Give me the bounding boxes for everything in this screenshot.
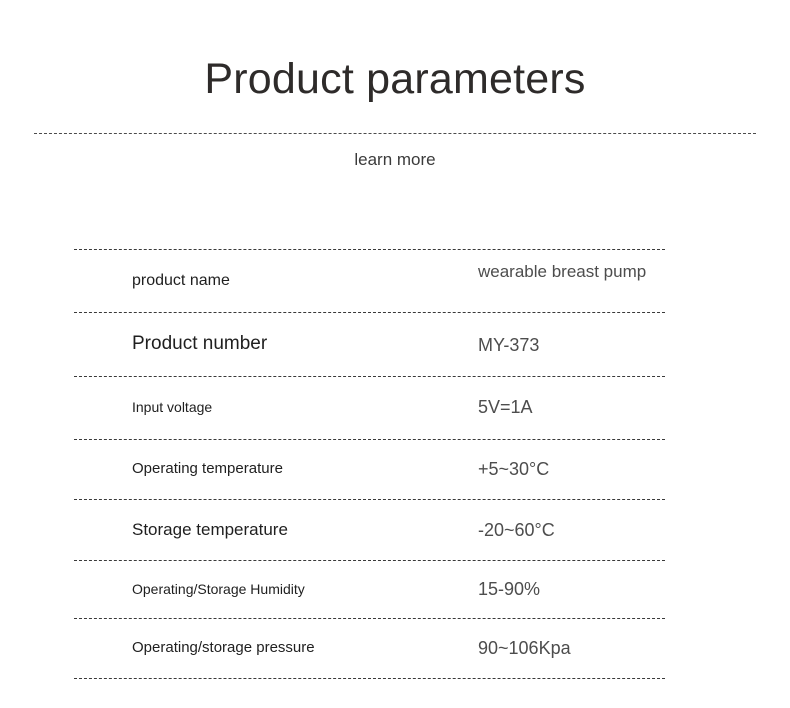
spec-value: -20~60°C: [478, 520, 663, 541]
table-row: product name wearable breast pump: [74, 250, 665, 312]
header-divider: [34, 133, 756, 134]
spec-value: wearable breast pump: [478, 262, 663, 282]
spec-value: 15-90%: [478, 579, 663, 600]
table-row: Input voltage 5V=1A: [74, 377, 665, 439]
table-row: Operating/Storage Humidity 15-90%: [74, 561, 665, 618]
product-parameters-table: product name wearable breast pump Produc…: [74, 249, 665, 679]
spec-value: 5V=1A: [478, 397, 663, 418]
spec-value: MY-373: [478, 335, 663, 356]
spec-label: Storage temperature: [132, 519, 288, 540]
spec-label: Operating/Storage Humidity: [132, 581, 305, 599]
spec-label: Operating temperature: [132, 460, 283, 479]
learn-more-label: learn more: [0, 150, 790, 170]
table-row: Operating/storage pressure 90~106Kpa: [74, 619, 665, 678]
page-title: Product parameters: [0, 55, 790, 104]
table-row: Storage temperature -20~60°C: [74, 500, 665, 560]
table-row: Product number MY-373: [74, 313, 665, 376]
spec-label: product name: [132, 271, 230, 291]
table-divider: [74, 678, 665, 679]
table-row: Operating temperature +5~30°C: [74, 440, 665, 499]
spec-value: 90~106Kpa: [478, 638, 663, 659]
spec-label: Operating/storage pressure: [132, 639, 315, 658]
spec-label: Product number: [132, 332, 267, 356]
spec-value: +5~30°C: [478, 459, 663, 480]
spec-label: Input voltage: [132, 399, 212, 417]
